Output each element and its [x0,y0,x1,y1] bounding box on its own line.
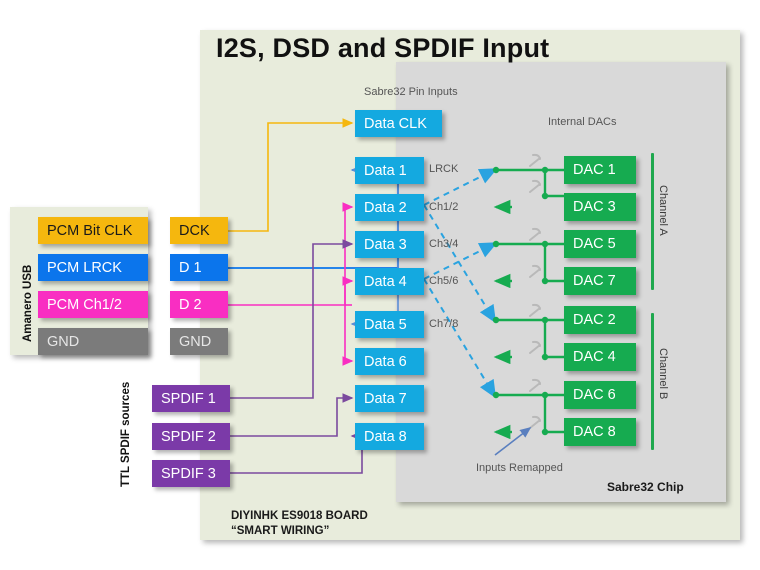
dac-7[interactable]: DAC 7 [564,267,636,295]
label-channel-a: Channel A [657,185,669,236]
dac-6[interactable]: DAC 6 [564,381,636,409]
pin-input-data-5[interactable]: Data 5 [355,311,424,338]
spdif-source-2[interactable]: SPDIF 2 [152,423,230,450]
pin-note-ch12: Ch1/2 [429,201,458,213]
pin-note-ch56: Ch5/6 [429,275,458,287]
caption-internal-dacs: Internal DACs [548,116,616,128]
pin-note-lrck: LRCK [429,163,458,175]
dac-1[interactable]: DAC 1 [564,156,636,184]
label-ttl-spdif-sources: TTL SPDIF sources [120,377,132,487]
board-signal-gnd[interactable]: GND [170,328,228,355]
usb-signal-pcm-ch12[interactable]: PCM Ch1/2 [38,291,148,318]
dac-3[interactable]: DAC 3 [564,193,636,221]
dac-5[interactable]: DAC 5 [564,230,636,258]
spdif-source-3[interactable]: SPDIF 3 [152,460,230,487]
page-title: I2S, DSD and SPDIF Input [216,33,549,64]
board-signal-dck[interactable]: DCK [170,217,228,244]
caption-pin-inputs: Sabre32 Pin Inputs [364,86,458,98]
pin-input-data-8[interactable]: Data 8 [355,423,424,450]
board-signal-d2[interactable]: D 2 [170,291,228,318]
usb-signal-pcm-bit-clk[interactable]: PCM Bit CLK [38,217,148,244]
dac-4[interactable]: DAC 4 [564,343,636,371]
usb-signal-pcm-lrck[interactable]: PCM LRCK [38,254,148,281]
pin-input-data-clk[interactable]: Data CLK [355,110,442,137]
spdif-source-1[interactable]: SPDIF 1 [152,385,230,412]
board-signal-d1[interactable]: D 1 [170,254,228,281]
dac-2[interactable]: DAC 2 [564,306,636,334]
pin-note-ch34: Ch3/4 [429,238,458,250]
pin-input-data-2[interactable]: Data 2 [355,194,424,221]
pin-input-data-3[interactable]: Data 3 [355,231,424,258]
pin-note-ch78: Ch7/8 [429,318,458,330]
pin-input-data-7[interactable]: Data 7 [355,385,424,412]
label-channel-b: Channel B [657,348,669,399]
label-amanero-usb: Amanero USB [22,232,34,342]
dac-8[interactable]: DAC 8 [564,418,636,446]
channel-b-bracket [651,313,654,450]
pin-input-data-1[interactable]: Data 1 [355,157,424,184]
pin-input-data-6[interactable]: Data 6 [355,348,424,375]
channel-a-bracket [651,153,654,290]
usb-signal-gnd[interactable]: GND [38,328,148,355]
pin-input-data-4[interactable]: Data 4 [355,268,424,295]
board-note: DIYINHK ES9018 BOARD “SMART WIRING” [231,509,368,539]
caption-sabre32-chip: Sabre32 Chip [607,480,684,494]
caption-inputs-remapped: Inputs Remapped [476,462,563,474]
